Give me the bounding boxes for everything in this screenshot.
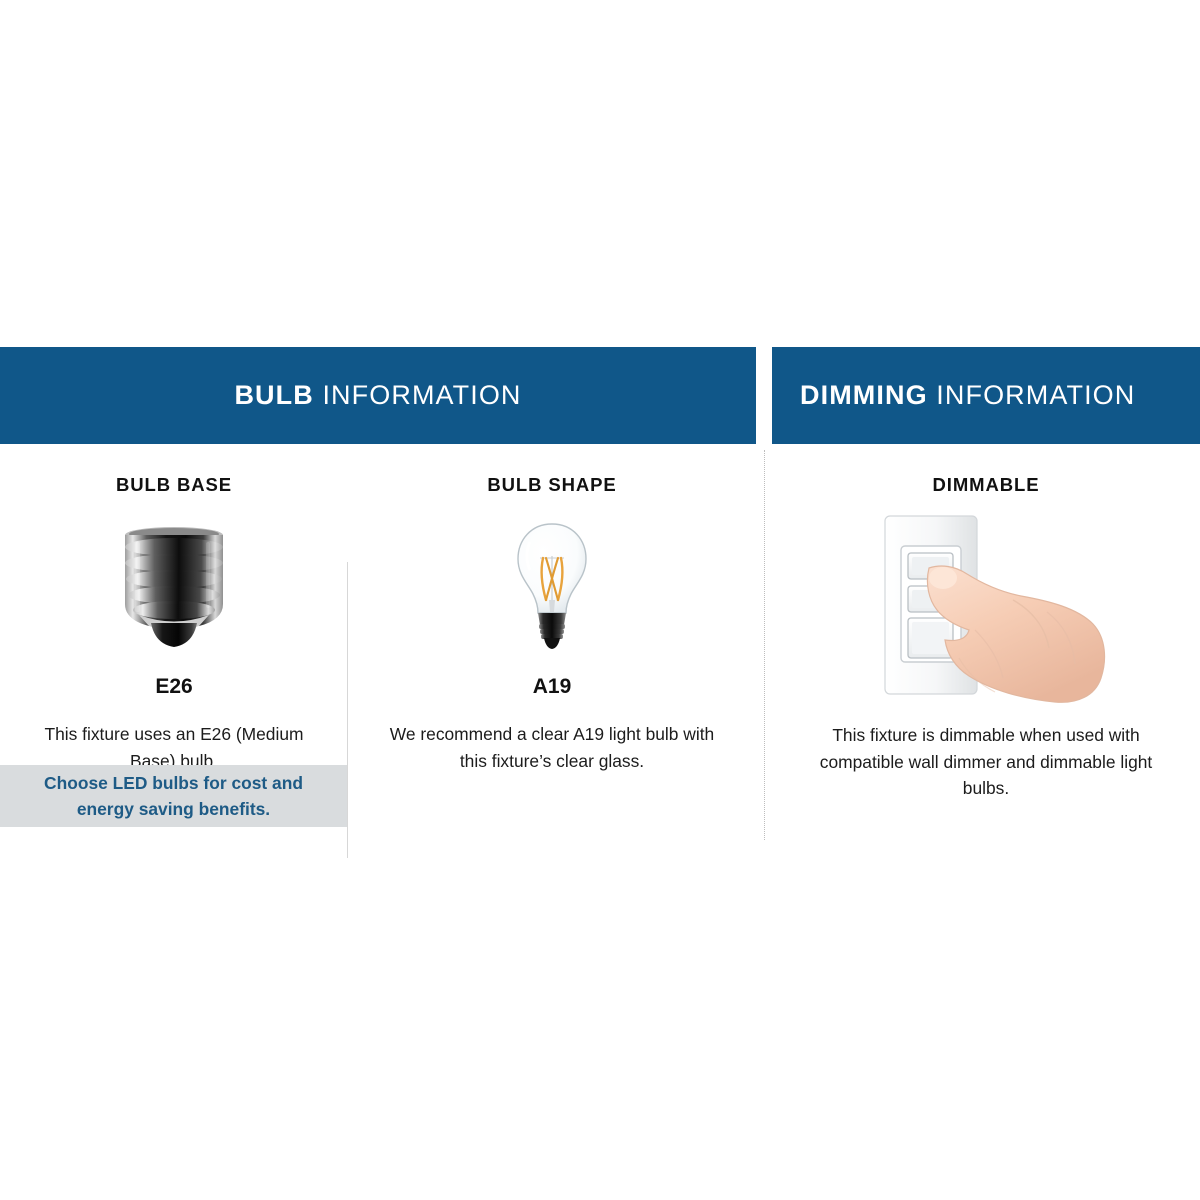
light-bulb-icon	[510, 520, 594, 652]
dimmable-heading: DIMMABLE	[772, 474, 1200, 496]
bulb-columns-divider	[347, 562, 348, 858]
led-callout-text: Choose LED bulbs for cost and energy sav…	[29, 770, 319, 822]
panels-dotted-divider	[764, 450, 765, 840]
dimming-columns: DIMMABLE	[772, 444, 1200, 802]
dimming-information-title: DIMMING INFORMATION	[800, 380, 1135, 411]
bulb-base-column: BULB BASE	[0, 444, 348, 774]
dimming-information-title-strong: DIMMING	[800, 380, 928, 410]
wall-dimmer-switch-icon	[863, 508, 1109, 704]
bulb-base-description: This fixture uses an E26 (Medium Base) b…	[39, 699, 309, 774]
dimmable-column: DIMMABLE	[772, 444, 1200, 802]
bulb-shape-heading: BULB SHAPE	[348, 474, 756, 496]
infographic-stage: BULB INFORMATION BULB BASE	[0, 0, 1200, 1200]
bulb-base-art	[0, 506, 348, 666]
dimmable-description: This fixture is dimmable when used with …	[816, 704, 1156, 801]
bulb-information-title: BULB INFORMATION	[234, 380, 521, 411]
bulb-base-spec: E26	[0, 674, 348, 699]
dimmable-art	[772, 508, 1200, 704]
dimming-information-banner: DIMMING INFORMATION	[772, 347, 1200, 444]
bulb-shape-art	[348, 506, 756, 666]
led-callout-box: Choose LED bulbs for cost and energy sav…	[0, 765, 347, 827]
lamp-screw-base-icon	[113, 522, 235, 650]
dimming-information-panel: DIMMING INFORMATION DIMMABLE	[772, 347, 1200, 802]
bulb-shape-column: BULB SHAPE	[348, 444, 756, 774]
bulb-information-title-strong: BULB	[234, 380, 313, 410]
bulb-columns: BULB BASE	[0, 444, 756, 774]
bulb-information-banner: BULB INFORMATION	[0, 347, 756, 444]
bulb-information-panel: BULB INFORMATION BULB BASE	[0, 347, 756, 774]
bulb-base-heading: BULB BASE	[0, 474, 348, 496]
dimming-information-title-rest: INFORMATION	[928, 380, 1136, 410]
bulb-information-title-rest: INFORMATION	[314, 380, 522, 410]
bulb-shape-spec: A19	[348, 674, 756, 699]
bulb-shape-description: We recommend a clear A19 light bulb with…	[387, 699, 717, 774]
